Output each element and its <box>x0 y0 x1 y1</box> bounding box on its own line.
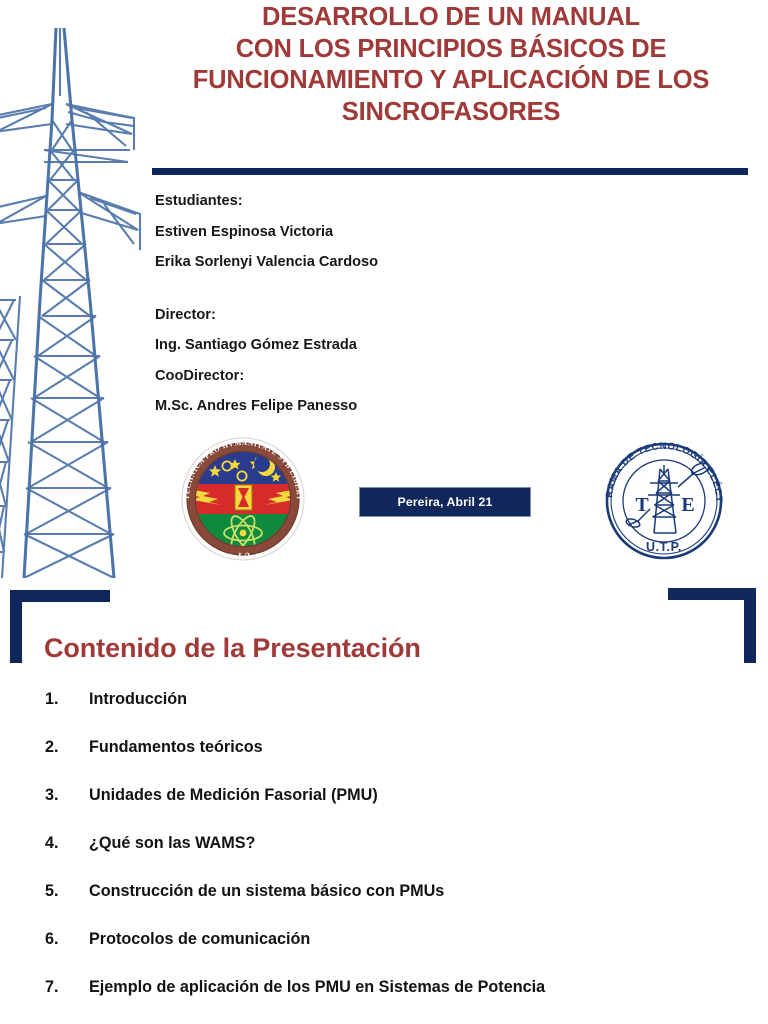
contents-slide: Contenido de la Presentación 1. Introduc… <box>0 585 768 1024</box>
list-item-label: ¿Qué son las WAMS? <box>89 834 255 853</box>
list-item: 7. Ejemplo de aplicación de los PMU en S… <box>0 978 768 1024</box>
presentation-title: DESARROLLO DE UN MANUAL CON LOS PRINCIPI… <box>150 2 752 128</box>
list-item-number: 5. <box>45 882 69 901</box>
list-item-number: 2. <box>45 738 69 757</box>
corner-bracket-top-left-horizontal <box>10 590 110 602</box>
list-item: 6. Protocolos de comunicación <box>0 930 768 978</box>
list-item-label: Unidades de Medición Fasorial (PMU) <box>89 786 378 805</box>
title-line-4: SINCROFASORES <box>150 97 752 129</box>
list-item: 2. Fundamentos teóricos <box>0 738 768 786</box>
list-item-label: Ejemplo de aplicación de los PMU en Sist… <box>89 978 545 997</box>
director-label: Director: <box>155 300 585 331</box>
students-label: Estudiantes: <box>155 186 585 217</box>
corner-bracket-top-right-vertical <box>744 588 756 663</box>
te-utp-text: U.T.P. <box>646 540 682 554</box>
transmission-tower-image <box>0 0 156 578</box>
title-line-2: CON LOS PRINCIPIOS BÁSICOS DE <box>150 34 752 66</box>
list-item-number: 4. <box>45 834 69 853</box>
date-location-text: Pereira, Abril 21 <box>398 495 493 509</box>
title-slide: DESARROLLO DE UN MANUAL CON LOS PRINCIPI… <box>0 0 768 585</box>
list-item: 3. Unidades de Medición Fasorial (PMU) <box>0 786 768 834</box>
contents-list: 1. Introducción 2. Fundamentos teóricos … <box>0 690 768 1024</box>
presenter-info: Estudiantes: Estiven Espinosa Victoria E… <box>155 186 585 422</box>
list-item-label: Protocolos de comunicación <box>89 930 310 949</box>
list-item-number: 6. <box>45 930 69 949</box>
list-item-label: Introducción <box>89 690 187 709</box>
date-location-badge: Pereira, Abril 21 <box>359 487 531 517</box>
list-item-label: Fundamentos teóricos <box>89 738 263 757</box>
te-letter-t: T <box>635 494 649 516</box>
list-item-number: 3. <box>45 786 69 805</box>
codirector-name: M.Sc. Andres Felipe Panesso <box>155 391 585 422</box>
list-item-number: 1. <box>45 690 69 709</box>
director-name: Ing. Santiago Gómez Estrada <box>155 330 585 361</box>
codirector-label: CooDirector: <box>155 361 585 392</box>
list-item: 5. Construcción de un sistema básico con… <box>0 882 768 930</box>
utp-seal-logo: SCIENTIA ET TECHNICA PRO HVMANITATE SVB … <box>178 434 308 564</box>
corner-bracket-top-left-vertical <box>10 590 22 663</box>
student-name-2: Erika Sorlenyi Valencia Cardoso <box>155 247 585 278</box>
te-letter-e: E <box>681 494 694 516</box>
tecnologia-electrica-logo: T E PROGRAMA DE TECNOLOGÍA ELÉCTRICA U.T… <box>594 437 734 565</box>
title-divider-rule <box>152 168 748 175</box>
list-item: 4. ¿Qué son las WAMS? <box>0 834 768 882</box>
title-line-1: DESARROLLO DE UN MANUAL <box>150 2 752 34</box>
list-item-number: 7. <box>45 978 69 997</box>
contents-heading: Contenido de la Presentación <box>44 633 421 664</box>
title-line-3: FUNCIONAMIENTO Y APLICACIÓN DE LOS <box>150 65 752 97</box>
corner-bracket-top-right-horizontal <box>668 588 756 600</box>
student-name-1: Estiven Espinosa Victoria <box>155 217 585 248</box>
list-item: 1. Introducción <box>0 690 768 738</box>
list-item-label: Construcción de un sistema básico con PM… <box>89 882 444 901</box>
